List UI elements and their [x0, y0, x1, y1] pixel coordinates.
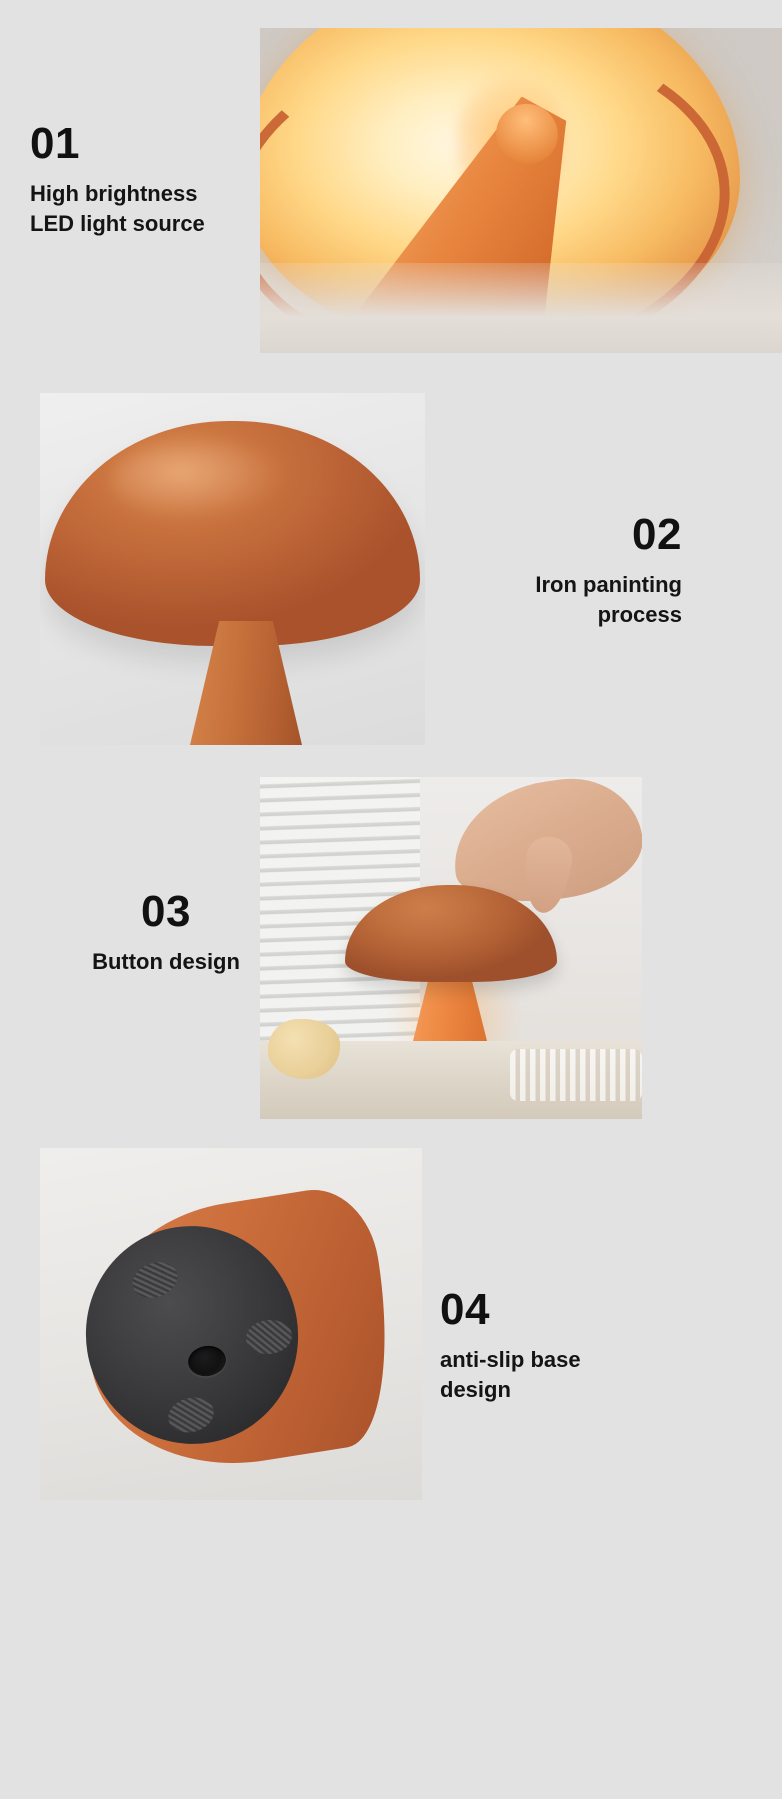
feature-caption-03: 03 Button design — [50, 890, 282, 977]
feature-image-04 — [40, 1148, 422, 1500]
feature-number-03: 03 — [50, 890, 282, 934]
feature-description-02: Iron paninting process — [430, 570, 682, 629]
feature-description-01: High brightness LED light source — [30, 179, 252, 238]
feature-description-04: anti-slip base design — [440, 1345, 682, 1404]
feature-caption-01: 01 High brightness LED light source — [30, 122, 252, 238]
shade-highlight — [110, 441, 290, 521]
feature-image-02 — [40, 393, 425, 745]
table-surface — [260, 263, 782, 353]
feature-caption-02: 02 Iron paninting process — [430, 513, 682, 629]
feature-caption-04: 04 anti-slip base design — [440, 1288, 682, 1404]
decor-object — [268, 1019, 340, 1079]
crochet-doily — [510, 1049, 642, 1101]
feature-description-03: Button design — [50, 947, 282, 977]
product-feature-infographic: 01 High brightness LED light source 02 I… — [0, 0, 782, 1799]
feature-image-03 — [260, 777, 642, 1119]
feature-image-01 — [260, 28, 782, 353]
feature-number-01: 01 — [30, 122, 252, 166]
feature-number-02: 02 — [430, 513, 682, 557]
feature-number-04: 04 — [440, 1288, 682, 1332]
